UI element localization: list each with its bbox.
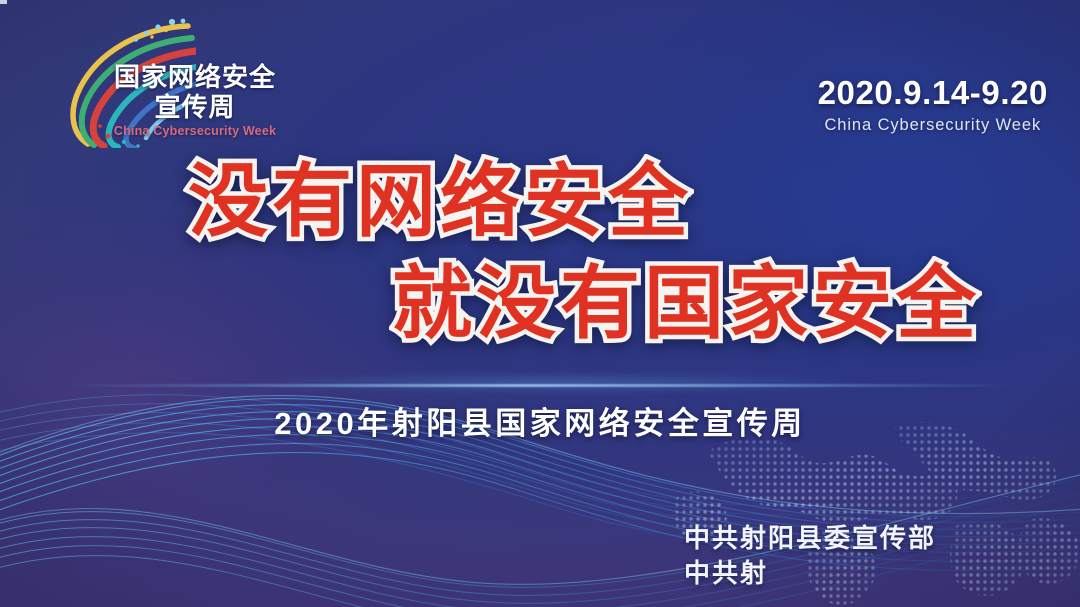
logo-text-block: 国家网络安全 宣传周 China Cybersecurity Week — [102, 64, 288, 138]
event-date-block: 2020.9.14-9.20 China Cybersecurity Week — [818, 76, 1048, 135]
headline-block: 没有网络安全 就没有国家安全 — [0, 162, 1080, 344]
headline-line-1: 没有网络安全 — [188, 162, 1080, 242]
cybersecurity-week-logo: 国家网络安全 宣传周 China Cybersecurity Week — [46, 18, 286, 148]
logo-title-line1: 国家网络安全 — [102, 64, 288, 92]
organizer-credits: 中共射阳县委宣传部 中共射 — [684, 521, 936, 591]
event-date-range: 2020.9.14-9.20 — [818, 76, 1048, 109]
organizer-credit-line-1: 中共射阳县委宣传部 — [684, 521, 936, 556]
logo-subtitle-english: China Cybersecurity Week — [102, 124, 288, 138]
cybersecurity-week-banner: 国家网络安全 宣传周 China Cybersecurity Week 2020… — [0, 0, 1080, 607]
logo-title-line2: 宣传周 — [102, 94, 288, 122]
headline-line-2: 就没有国家安全 — [392, 264, 1080, 344]
light-streak-separator — [65, 384, 1015, 387]
top-left-edge-sliver — [0, 0, 7, 4]
light-streak-glow — [86, 372, 993, 394]
event-subtitle: 2020年射阳县国家网络安全宣传周 — [0, 398, 1080, 443]
organizer-credit-line-2: 中共射 — [684, 556, 936, 591]
event-date-caption: China Cybersecurity Week — [818, 116, 1048, 135]
